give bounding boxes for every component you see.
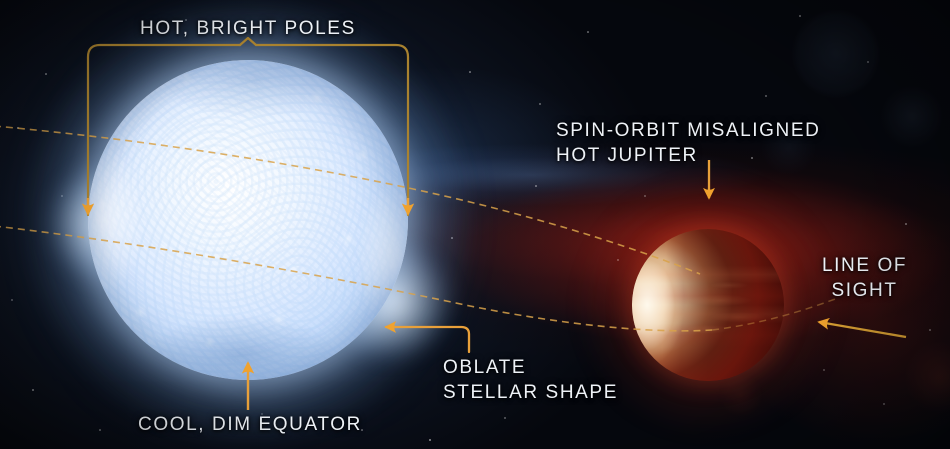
diagram-canvas: HOT, BRIGHT POLES SPIN-ORBIT MISALIGNED … bbox=[0, 0, 950, 449]
background-star bbox=[905, 223, 907, 225]
background-star bbox=[539, 103, 540, 104]
label-cool-dim-equator: COOL, DIM EQUATOR bbox=[138, 412, 362, 437]
background-star bbox=[823, 369, 824, 370]
background-star bbox=[469, 71, 471, 73]
background-star bbox=[429, 439, 431, 441]
planet-lit-crescent bbox=[632, 229, 784, 381]
background-star bbox=[883, 403, 884, 404]
background-star bbox=[799, 15, 801, 17]
background-star bbox=[929, 329, 931, 331]
line-of-sight-arrow bbox=[819, 322, 906, 337]
background-star bbox=[45, 73, 47, 75]
hot-jupiter-planet bbox=[632, 229, 784, 381]
star-limb-darkening bbox=[88, 60, 408, 380]
background-star bbox=[32, 389, 34, 391]
background-star bbox=[451, 237, 453, 239]
background-star bbox=[17, 127, 19, 129]
background-star bbox=[617, 259, 618, 260]
background-star bbox=[765, 95, 766, 96]
background-star bbox=[535, 185, 537, 187]
planet-disc bbox=[632, 229, 784, 381]
background-star bbox=[587, 31, 589, 33]
background-star bbox=[11, 299, 12, 300]
background-star bbox=[867, 61, 868, 62]
label-line-of-sight: LINE OF SIGHT bbox=[822, 253, 907, 303]
host-star bbox=[88, 60, 408, 380]
label-hot-bright-poles: HOT, BRIGHT POLES bbox=[140, 16, 356, 41]
background-star bbox=[644, 195, 645, 196]
star-disc bbox=[88, 60, 408, 380]
background-star bbox=[99, 429, 101, 431]
label-oblate-stellar-shape: OBLATE STELLAR SHAPE bbox=[443, 355, 618, 405]
background-star bbox=[504, 417, 505, 418]
background-star bbox=[61, 195, 62, 196]
label-spin-orbit-misaligned-hot-jupiter: SPIN-ORBIT MISALIGNED HOT JUPITER bbox=[556, 118, 820, 168]
